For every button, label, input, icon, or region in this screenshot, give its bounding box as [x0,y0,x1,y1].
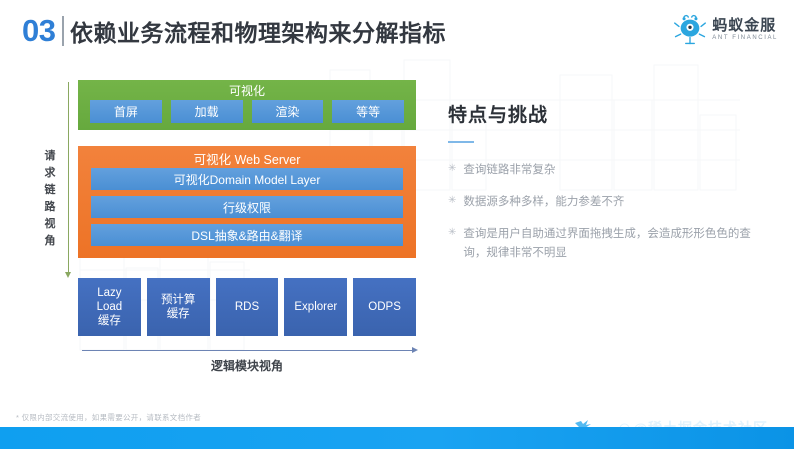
vertical-axis-label: 请 求 链 路 视 角 [42,148,58,250]
list-item-label: 查询链路非常复杂 [463,161,555,180]
list-item: ✳ 数据源多种多样，能力参差不齐 [448,193,766,212]
visualization-items: 首屏 加载 渲染 等等 [90,100,404,123]
visualization-block-title: 可视化 [78,82,416,99]
web-server-layer[interactable]: 可视化Domain Model Layer [91,168,403,190]
horizontal-axis-label: 逻辑模块视角 [78,357,416,374]
visualization-item[interactable]: 首屏 [90,100,162,123]
storage-box[interactable]: 预计算 缓存 [147,278,210,336]
web-server-layer[interactable]: 行级权限 [91,196,403,218]
brand-name-en: ANT FINANCIAL [712,35,778,41]
web-server-layers: 可视化Domain Model Layer 行级权限 DSL抽象&路由&翻译 [91,168,403,246]
title-divider [62,16,64,46]
features-panel-rule [448,141,474,143]
bullet-mark-icon: ✳ [448,161,456,177]
vertical-axis-arrow-icon [65,272,71,278]
list-item-label: 数据源多种多样，能力参差不齐 [463,193,624,212]
page-title: 依赖业务流程和物理架构来分解指标 [70,14,446,48]
features-bullet-list: ✳ 查询链路非常复杂 ✳ 数据源多种多样，能力参差不齐 ✳ 查询是用户自助通过界… [448,161,766,263]
brand-logo: 蚂蚁金服 ANT FINANCIAL [673,12,778,46]
list-item-label: 查询是用户自助通过界面拖拽生成，会造成形形色色的查询，规律非常不明显 [463,225,766,263]
visualization-item[interactable]: 等等 [332,100,404,123]
storage-layer: Lazy Load 缓存 预计算 缓存 RDS Explorer ODPS [78,278,416,336]
web-server-block: 可视化 Web Server 可视化Domain Model Layer 行级权… [78,146,416,258]
bullet-mark-icon: ✳ [448,225,456,241]
visualization-item[interactable]: 渲染 [252,100,324,123]
storage-box[interactable]: ODPS [353,278,416,336]
slide-header: 03 依赖业务流程和物理架构来分解指标 [0,0,794,66]
list-item: ✳ 查询链路非常复杂 [448,161,766,180]
list-item: ✳ 查询是用户自助通过界面拖拽生成，会造成形形色色的查询，规律非常不明显 [448,225,766,263]
brand-text: 蚂蚁金服 ANT FINANCIAL [712,18,778,41]
features-panel-heading: 特点与挑战 [448,100,766,127]
web-server-block-title: 可视化 Web Server [78,149,416,168]
horizontal-axis-line [82,350,412,351]
storage-box[interactable]: Explorer [284,278,347,336]
web-server-layer[interactable]: DSL抽象&路由&翻译 [91,224,403,246]
features-panel: 特点与挑战 ✳ 查询链路非常复杂 ✳ 数据源多种多样，能力参差不齐 ✳ 查询是用… [448,100,766,263]
ant-mascot-icon [673,12,707,46]
visualization-item[interactable]: 加载 [171,100,243,123]
storage-box[interactable]: RDS [216,278,279,336]
bullet-mark-icon: ✳ [448,193,456,209]
architecture-diagram: 请 求 链 路 视 角 可视化 首屏 加载 渲染 等等 可视化 Web Serv… [40,80,430,390]
footer-bar [0,427,794,449]
horizontal-axis-arrow-icon [412,347,418,353]
storage-box[interactable]: Lazy Load 缓存 [78,278,141,336]
visualization-block: 可视化 首屏 加载 渲染 等等 [78,80,416,130]
slide-number: 03 [22,13,55,49]
slide-canvas: 03 依赖业务流程和物理架构来分解指标 [0,0,794,449]
footer-note: * 仅限内部交流使用，如果需要公开，请联系文档作者 [16,412,201,423]
brand-name-cn: 蚂蚁金服 [712,18,778,33]
vertical-axis-line [68,82,69,274]
